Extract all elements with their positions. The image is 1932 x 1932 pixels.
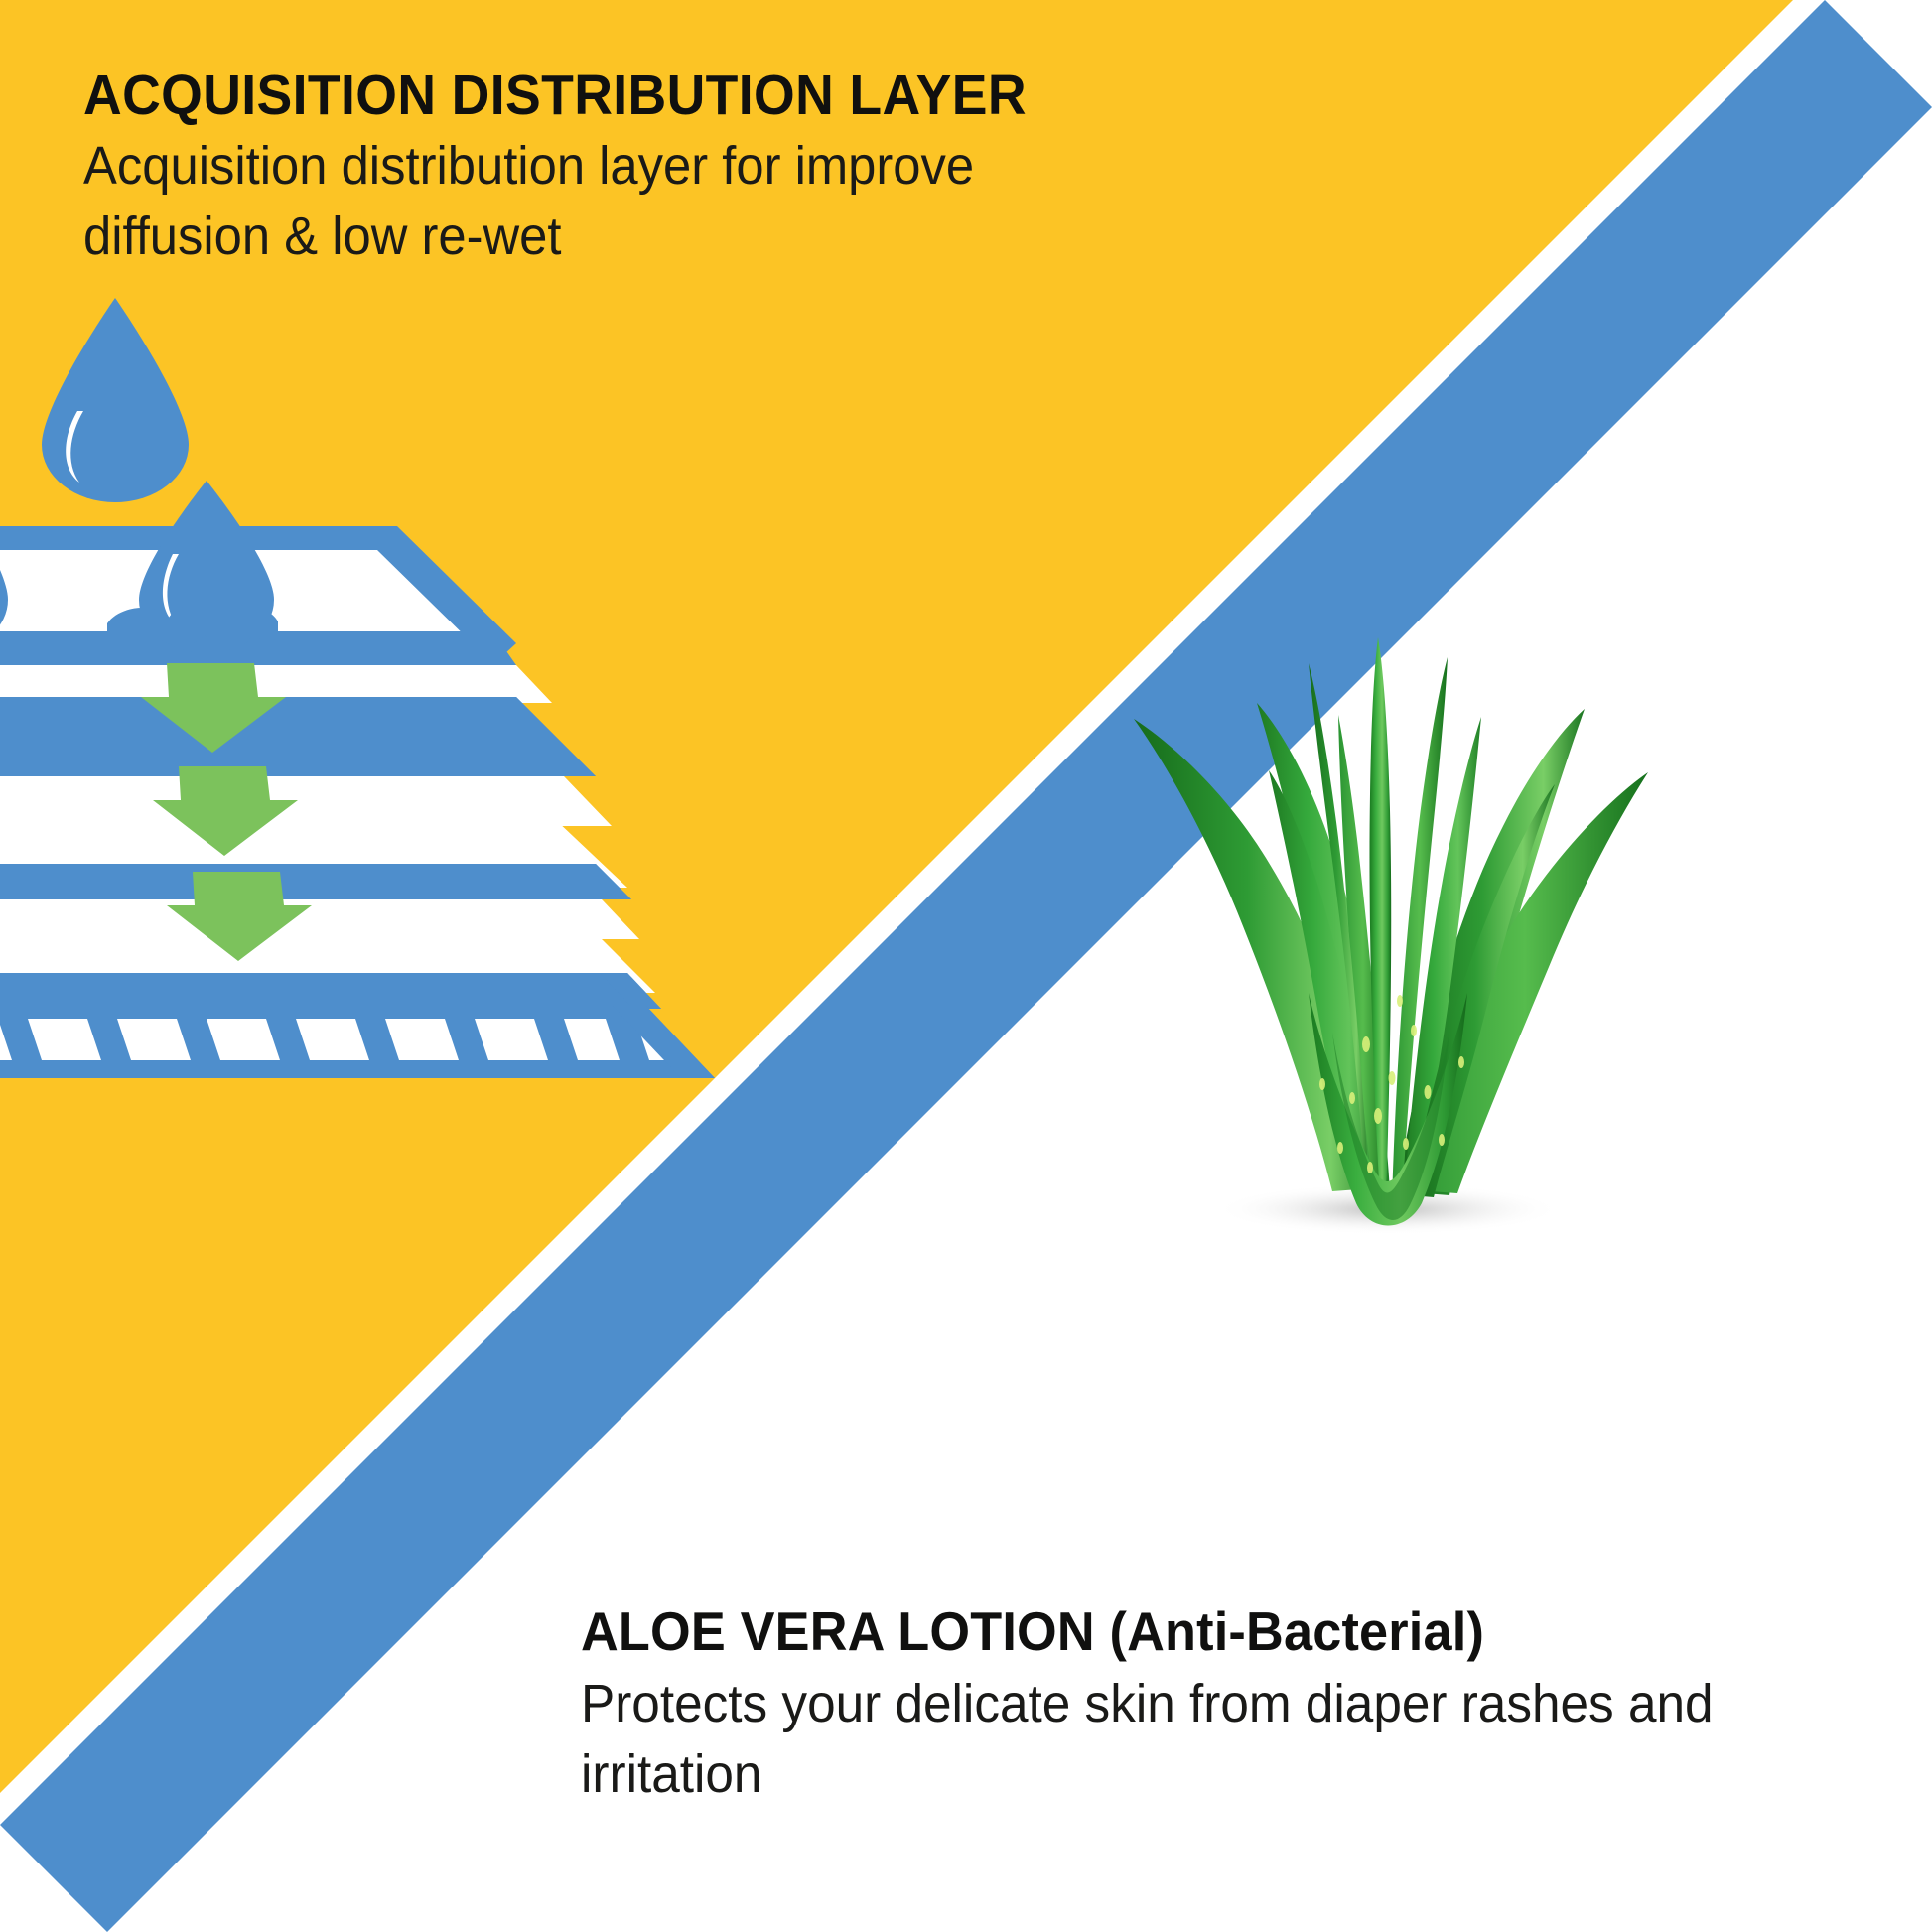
absorbent-layer-stack-diagram — [0, 437, 715, 1052]
water-droplet-icon — [36, 294, 195, 502]
right-copy-block: ALOE VERA LOTION (Anti-Bacterial) Protec… — [581, 1602, 1891, 1809]
layer-acquisition-distribution — [0, 697, 612, 826]
aloe-description: Protects your delicate skin from diaper … — [581, 1669, 1826, 1808]
page-title: ACQUISITION DISTRIBUTION LAYER — [83, 66, 1129, 125]
aloe-title: ALOE VERA LOTION (Anti-Bacterial) — [581, 1602, 1826, 1661]
layer-absorbent-core — [0, 820, 639, 939]
left-copy-block: ACQUISITION DISTRIBUTION LAYER Acquisiti… — [83, 66, 1195, 271]
layer-back-sheet — [0, 1005, 715, 1078]
aloe-vera-plant-image — [1072, 596, 1708, 1251]
left-description: Acquisition distribution layer for impro… — [83, 131, 1129, 270]
layer-top-sheet — [0, 526, 552, 703]
infographic-canvas: ACQUISITION DISTRIBUTION LAYER Acquisiti… — [0, 0, 1932, 1932]
layer-distribution — [0, 933, 661, 1009]
